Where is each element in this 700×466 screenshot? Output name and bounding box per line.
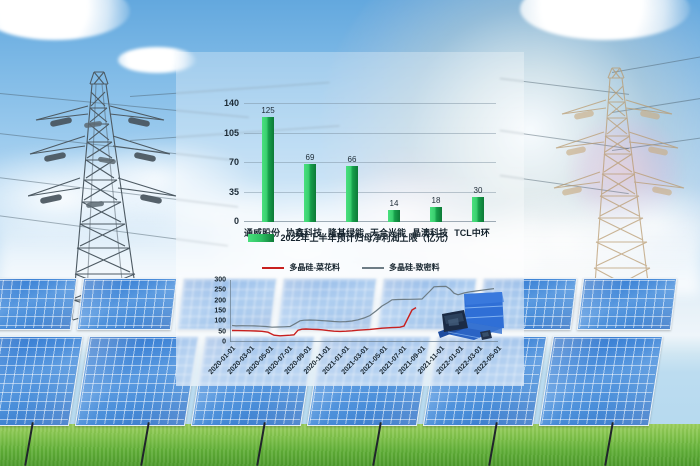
line-y-tick: 100 <box>214 318 226 325</box>
legend-label: 多晶硅-菜花料 <box>289 262 340 273</box>
solar-panel <box>539 336 663 426</box>
bar-value-label: 125 <box>261 106 274 115</box>
legend-label: 2022年上半年预计归母净利润上限（亿元） <box>280 231 453 244</box>
bar: 69 协鑫科技 <box>304 164 316 222</box>
legend-line-swatch <box>262 267 284 269</box>
bar-chart-plot-area: 140 105 70 35 0 125 通威股份 69 协鑫科技 <box>244 104 496 222</box>
bar-chart: 140 105 70 35 0 125 通威股份 69 协鑫科技 <box>196 96 506 246</box>
legend-line-swatch <box>362 267 384 269</box>
bar-y-tick: 105 <box>224 128 239 138</box>
bar-y-tick: 70 <box>229 157 239 167</box>
bar-value-label: 14 <box>390 199 399 208</box>
line-y-tick: 0 <box>222 339 226 346</box>
cloud-small-upper-left <box>0 0 130 40</box>
bar: 30 TCL中环 <box>472 197 484 222</box>
bar-value-label: 18 <box>432 196 441 205</box>
line-y-tick: 150 <box>214 308 226 315</box>
gridline: 35 <box>244 192 496 193</box>
line-y-tick: 300 <box>214 277 226 284</box>
line-y-tick: 50 <box>218 328 226 335</box>
legend-item-dense: 多晶硅-致密料 <box>362 262 440 273</box>
gridline: 70 <box>244 162 496 163</box>
bar: 66 隆基绿能 <box>346 166 358 222</box>
bar-chart-legend: 2022年上半年预计归母净利润上限（亿元） <box>196 231 506 244</box>
bar: 18 晶澳科技 <box>430 207 442 222</box>
line-y-tick: 200 <box>214 297 226 304</box>
solar-panel <box>77 278 177 330</box>
bar-y-tick: 140 <box>224 98 239 108</box>
gridline: 140 <box>244 103 496 104</box>
bar-value-label: 69 <box>306 153 315 162</box>
line-y-tick: 250 <box>214 287 226 294</box>
line-chart: 多晶硅-菜花料 多晶硅-致密料 300 250 200 150 100 50 0 <box>196 262 506 382</box>
bar-y-tick: 0 <box>234 216 239 226</box>
bar: 125 通威股份 <box>262 117 274 222</box>
solar-panel <box>0 278 77 330</box>
infographic-canvas: 140 105 70 35 0 125 通威股份 69 协鑫科技 <box>0 0 700 466</box>
gridline: 0 <box>244 221 496 222</box>
line-chart-legend: 多晶硅-菜花料 多晶硅-致密料 <box>196 262 506 273</box>
pylon-right <box>548 60 698 300</box>
legend-item-cauliflower: 多晶硅-菜花料 <box>262 262 340 273</box>
bar-value-label: 66 <box>348 155 357 164</box>
legend-label: 多晶硅-致密料 <box>389 262 440 273</box>
solar-panel <box>577 278 677 330</box>
legend-swatch <box>248 234 274 242</box>
solar-panel <box>0 336 83 426</box>
gridline: 105 <box>244 133 496 134</box>
bar: 14 天合光能 <box>388 210 400 222</box>
polysilicon-sample-photo <box>428 288 506 350</box>
bar-y-tick: 35 <box>229 187 239 197</box>
series-line-cauliflower <box>232 308 416 336</box>
bar-value-label: 30 <box>474 186 483 195</box>
